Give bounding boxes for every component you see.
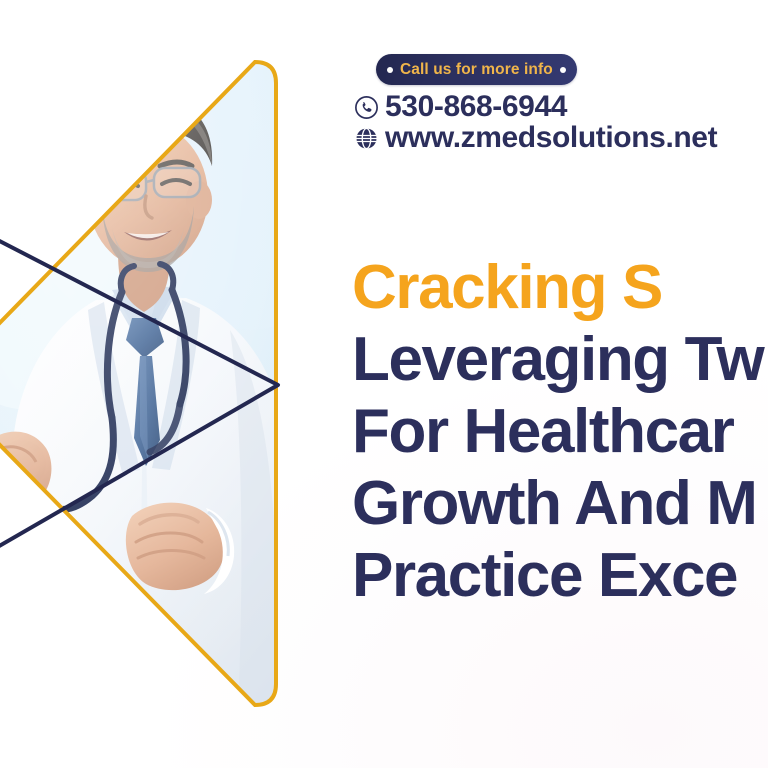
badge-dot-right: [560, 67, 566, 73]
call-us-badge[interactable]: Call us for more info: [376, 54, 577, 85]
banner-content: Call us for more info 530-868-6944: [352, 0, 768, 768]
doctor-triangle-graphic: [0, 0, 330, 768]
phone-row[interactable]: 530-868-6944: [354, 92, 567, 122]
phone-circle-icon: [354, 95, 379, 120]
headline-line-2: Leveraging Tw: [352, 324, 768, 396]
headline-line-5: Practice Exce: [352, 540, 768, 612]
globe-icon: [354, 126, 379, 151]
website-url: www.zmedsolutions.net: [385, 123, 717, 153]
headline-line-4: Growth And M: [352, 468, 768, 540]
phone-number: 530-868-6944: [385, 92, 567, 122]
badge-dot-left: [387, 67, 393, 73]
promo-banner: Call us for more info 530-868-6944: [0, 0, 768, 768]
website-row[interactable]: www.zmedsolutions.net: [354, 123, 717, 153]
headline: Cracking S Leveraging Tw For Healthcar G…: [352, 252, 768, 612]
headline-line-1: Cracking S: [352, 252, 768, 324]
headline-line-3: For Healthcar: [352, 396, 768, 468]
badge-label: Call us for more info: [400, 62, 553, 78]
